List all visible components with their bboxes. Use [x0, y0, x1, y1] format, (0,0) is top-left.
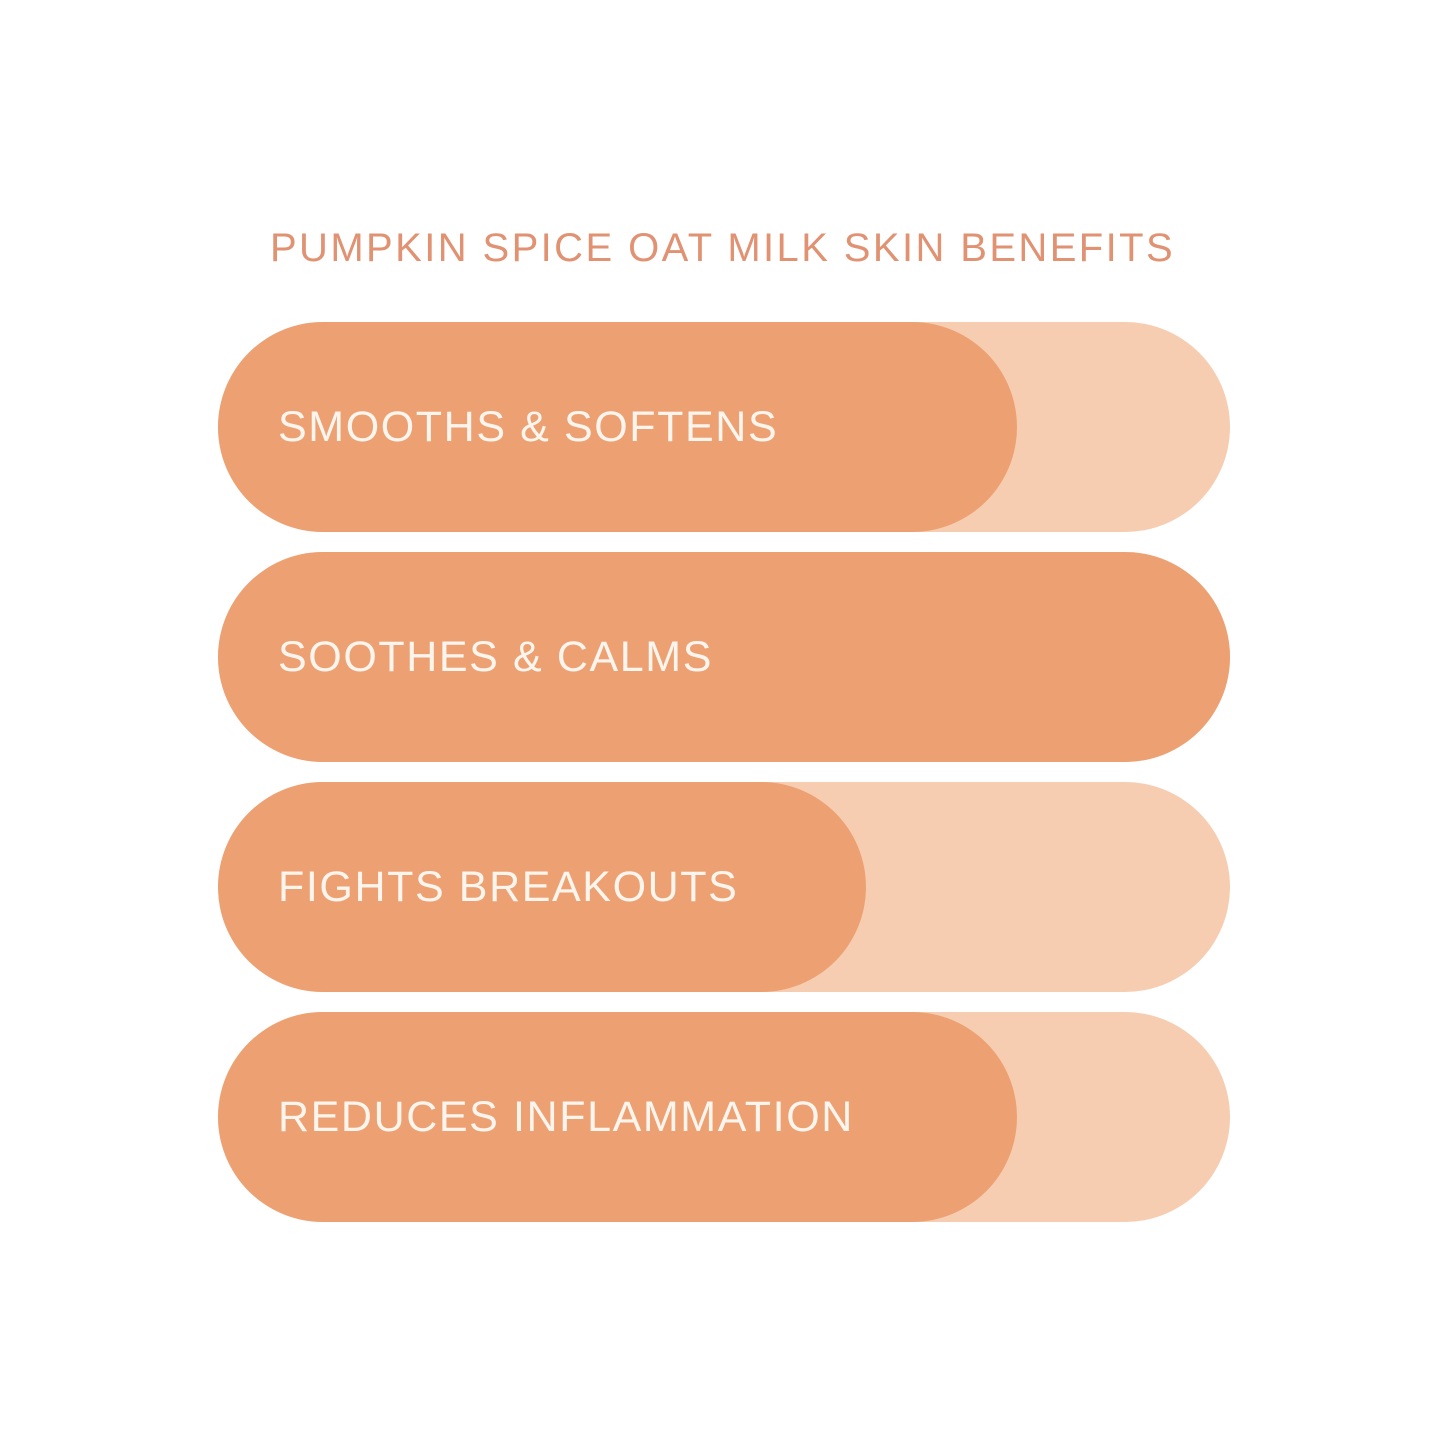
page-title: PUMPKIN SPICE OAT MILK SKIN BENEFITS [0, 228, 1445, 268]
bar-label: REDUCES INFLAMMATION [278, 1012, 854, 1222]
benefit-bar-row-2: SOOTHES & CALMS [218, 552, 1230, 762]
bar-label: SMOOTHS & SOFTENS [278, 322, 778, 532]
benefit-bar-row-4: REDUCES INFLAMMATION [218, 1012, 1230, 1222]
benefit-bar-row-1: SMOOTHS & SOFTENS [218, 322, 1230, 532]
bar-label: FIGHTS BREAKOUTS [278, 782, 738, 992]
bar-label: SOOTHES & CALMS [278, 552, 713, 762]
benefit-bar-row-3: FIGHTS BREAKOUTS [218, 782, 1230, 992]
benefit-bar-list: SMOOTHS & SOFTENS SOOTHES & CALMS FIGHTS… [218, 322, 1230, 1222]
benefits-infographic: PUMPKIN SPICE OAT MILK SKIN BENEFITS SMO… [0, 0, 1445, 1445]
